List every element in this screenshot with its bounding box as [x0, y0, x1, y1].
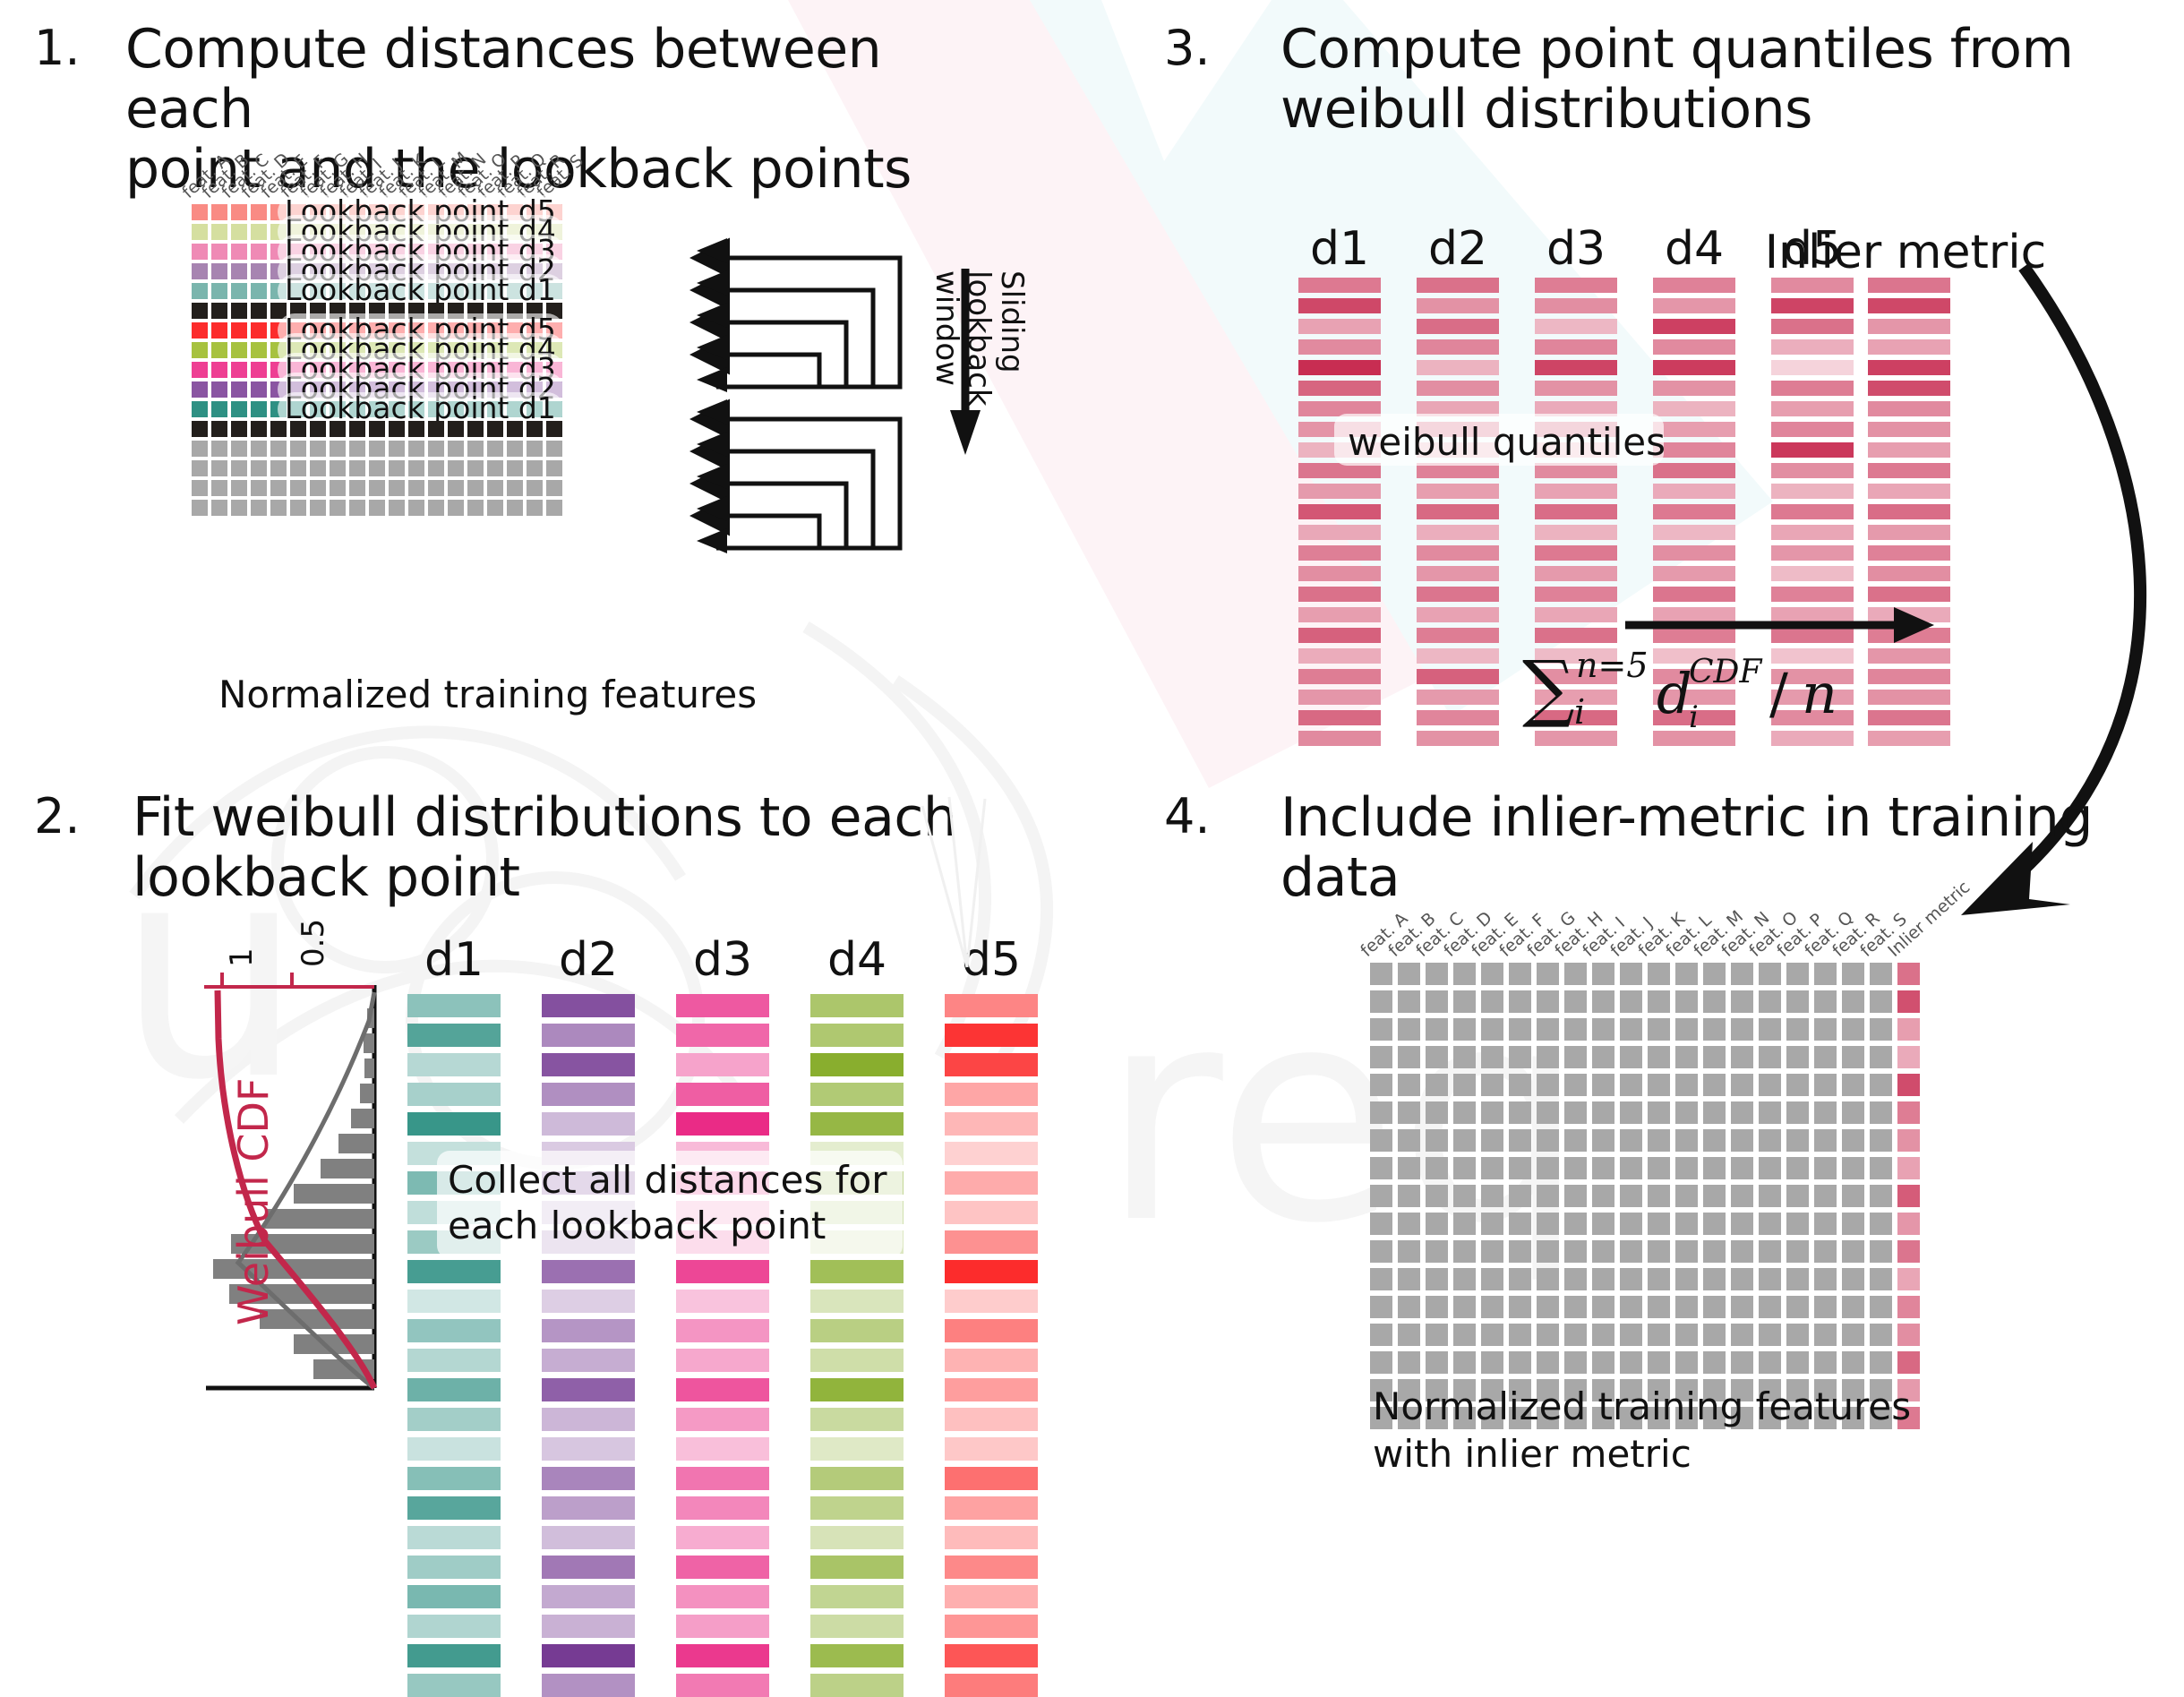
distance-bar [810, 1585, 904, 1608]
feature-cell [310, 500, 326, 516]
feature-cell [1620, 1074, 1642, 1096]
feature-cell [310, 441, 326, 457]
feature-cell [1426, 1296, 1448, 1318]
distance-bar [810, 1349, 904, 1372]
feature-cell [1814, 963, 1837, 985]
feature-cell [330, 500, 346, 516]
quantile-bar [1417, 339, 1499, 355]
distance-bar [407, 1260, 501, 1283]
feature-cell [1731, 1213, 1753, 1235]
quantile-bar [1417, 278, 1499, 293]
distance-bar [542, 1556, 635, 1579]
feature-cell [211, 401, 227, 417]
feature-cell [1564, 1324, 1587, 1346]
distance-bar [810, 1496, 904, 1520]
distance-bar [810, 1319, 904, 1342]
feature-cell [527, 460, 543, 476]
distance-bar [407, 1290, 501, 1313]
quantile-bar [1535, 504, 1617, 519]
feature-cell [1564, 990, 1587, 1013]
feature-cell [1648, 1074, 1670, 1096]
feature-cell [1620, 1213, 1642, 1235]
distance-bar [407, 1467, 501, 1490]
feature-cell [507, 500, 523, 516]
quantile-bar [1298, 525, 1381, 540]
feature-row [192, 421, 566, 437]
feature-cell [1537, 1296, 1559, 1318]
training-row [1370, 1351, 1920, 1374]
feature-cell [251, 244, 267, 260]
distance-bar [676, 1319, 769, 1342]
feature-cell [310, 460, 326, 476]
feature-cell [349, 421, 365, 437]
feature-cell [231, 401, 247, 417]
quantile-bar [1298, 381, 1381, 396]
feature-cell [1842, 1296, 1864, 1318]
feature-cell [1537, 1018, 1559, 1041]
feature-row [192, 500, 566, 516]
svg-text:n=5: n=5 [1576, 646, 1649, 685]
feature-cell [1481, 1046, 1503, 1068]
distance-bar [542, 1024, 635, 1047]
feature-cell [1509, 1185, 1531, 1207]
feature-cell [1398, 963, 1420, 985]
quantile-bar [1417, 566, 1499, 581]
distance-bar [945, 1349, 1038, 1372]
quantile-bar [1535, 731, 1617, 746]
feature-cell [290, 460, 306, 476]
feature-cell [1426, 1129, 1448, 1152]
quantile-bar [1298, 628, 1381, 643]
feature-cell [1426, 1157, 1448, 1179]
inlier-metric-cell [1897, 1129, 1920, 1152]
feature-cell [1842, 1185, 1864, 1207]
feature-cell [251, 381, 267, 398]
feature-cell [1509, 1101, 1531, 1124]
distance-bar [945, 1408, 1038, 1431]
feature-cell [1759, 1296, 1781, 1318]
training-row [1370, 1296, 1920, 1318]
distance-bar [407, 1585, 501, 1608]
feature-cell [270, 500, 287, 516]
distance-bar [407, 1349, 501, 1372]
feature-cell [527, 480, 543, 496]
feature-row [192, 480, 566, 496]
distance-bar [676, 1496, 769, 1520]
feature-cell [1564, 1018, 1587, 1041]
feature-cell [389, 421, 405, 437]
feature-cell [1814, 1018, 1837, 1041]
feature-cell [1870, 963, 1892, 985]
feature-cell [231, 480, 247, 496]
quantile-bar [1653, 401, 1735, 416]
distance-bar [676, 1437, 769, 1461]
feature-cell [1648, 1324, 1670, 1346]
feature-cell [1731, 1018, 1753, 1041]
distance-bar [542, 1496, 635, 1520]
feature-cell [1453, 1046, 1476, 1068]
feature-cell [1870, 1018, 1892, 1041]
feature-cell [270, 460, 287, 476]
feature-cell [1731, 963, 1753, 985]
feature-cell [1731, 1324, 1753, 1346]
feature-cell [1620, 990, 1642, 1013]
feature-cell [290, 480, 306, 496]
feature-cell [1842, 1074, 1864, 1096]
quantile-bar [1298, 504, 1381, 519]
feature-cell [1648, 1268, 1670, 1290]
feature-cell [1620, 1018, 1642, 1041]
feature-cell [1620, 1268, 1642, 1290]
inlier-metric-cell [1897, 1351, 1920, 1374]
feature-cell [1453, 963, 1476, 985]
quantile-bar [1298, 319, 1381, 334]
quantile-bar [1535, 525, 1617, 540]
feature-cell [231, 421, 247, 437]
feature-cell [507, 480, 523, 496]
feature-cell [1814, 1268, 1837, 1290]
feature-cell [1370, 1157, 1392, 1179]
feature-cell [1703, 1213, 1726, 1235]
feature-cell [330, 460, 346, 476]
distance-bar [945, 1230, 1038, 1254]
quantile-bar [1653, 545, 1735, 561]
quantile-bar [1535, 278, 1617, 293]
feature-cell [1814, 1074, 1837, 1096]
distance-bar [407, 1112, 501, 1136]
feature-cell [251, 421, 267, 437]
inlier-metric-cell [1897, 1268, 1920, 1290]
feature-cell [1648, 1296, 1670, 1318]
feature-cell [1870, 1213, 1892, 1235]
feature-cell [507, 460, 523, 476]
quantile-bar [1653, 381, 1735, 396]
feature-cell [1398, 990, 1420, 1013]
distance-bar [810, 1615, 904, 1638]
feature-cell [231, 342, 247, 358]
feature-cell [1675, 1018, 1698, 1041]
distance-bar [542, 1053, 635, 1076]
column-header: d2 [542, 933, 635, 987]
feature-cell [389, 500, 405, 516]
column-header: d3 [1535, 222, 1617, 276]
feature-cell [1509, 1240, 1531, 1263]
feature-cell [1648, 1240, 1670, 1263]
feature-cell [1842, 1324, 1864, 1346]
feature-cell [1786, 1046, 1809, 1068]
feature-cell [1620, 1101, 1642, 1124]
feature-cell [211, 362, 227, 378]
feature-cell [1564, 1101, 1587, 1124]
feature-cell [231, 263, 247, 279]
feature-cell [1814, 1046, 1837, 1068]
distance-bar [407, 994, 501, 1017]
feature-cell [1537, 1157, 1559, 1179]
feature-cell [1564, 1129, 1587, 1152]
feature-cell [1675, 1324, 1698, 1346]
distance-bar [407, 1319, 501, 1342]
feature-cell [231, 362, 247, 378]
distance-bar [810, 1112, 904, 1136]
feature-cell [1426, 963, 1448, 985]
feature-cell [192, 401, 208, 417]
feature-cell [211, 342, 227, 358]
feature-cell [428, 421, 444, 437]
feature-cell [1648, 1185, 1670, 1207]
feature-cell [1703, 1240, 1726, 1263]
feature-cell [1370, 990, 1392, 1013]
feature-cell [546, 500, 562, 516]
feature-cell [487, 460, 503, 476]
panel-2-number: 2. [34, 788, 81, 844]
panel-1-caption: Normalized training features [218, 672, 757, 719]
feature-cell [251, 204, 267, 220]
feature-cell [1537, 1324, 1559, 1346]
svg-text:∑: ∑ [1522, 646, 1575, 731]
feature-cell [1648, 1046, 1670, 1068]
distance-bar [676, 1467, 769, 1490]
feature-cell [408, 500, 424, 516]
feature-cell [369, 500, 385, 516]
distance-bar [407, 1437, 501, 1461]
panel-1-rows: Lookback point d5Lookback point d4Lookba… [192, 204, 566, 519]
quantile-bar [1298, 545, 1381, 561]
feature-cell [1648, 963, 1670, 985]
feature-cell [211, 204, 227, 220]
feature-cell [546, 421, 562, 437]
feature-cell [448, 441, 464, 457]
quantile-bar [1298, 339, 1381, 355]
feature-cell [1509, 1213, 1531, 1235]
feature-cell [1648, 990, 1670, 1013]
feature-cell [270, 421, 287, 437]
feature-cell [546, 480, 562, 496]
feature-cell [1703, 1101, 1726, 1124]
feature-cell [1592, 1324, 1614, 1346]
feature-cell [1731, 1101, 1753, 1124]
feature-cell [211, 322, 227, 339]
feature-cell [1426, 1046, 1448, 1068]
distance-bar [945, 1171, 1038, 1195]
feature-cell [1564, 1213, 1587, 1235]
feature-cell [1620, 1296, 1642, 1318]
feature-row [192, 460, 566, 476]
quantile-bar [1298, 360, 1381, 375]
cdf-tick-1: 1 [224, 947, 260, 967]
inlier-metric-cell [1897, 1213, 1920, 1235]
feature-cell [1731, 1268, 1753, 1290]
feature-cell [1481, 1101, 1503, 1124]
feature-cell [1398, 1351, 1420, 1374]
feature-row [192, 441, 566, 457]
feature-cell [448, 421, 464, 437]
quantile-bar [1653, 360, 1735, 375]
distance-bar [945, 1496, 1038, 1520]
feature-cell [1759, 1213, 1781, 1235]
distance-bar [542, 1112, 635, 1136]
training-row [1370, 1268, 1920, 1290]
feature-cell [1759, 1240, 1781, 1263]
distance-bar [676, 1349, 769, 1372]
feature-cell [211, 263, 227, 279]
feature-cell [1509, 1351, 1531, 1374]
feature-cell [1370, 1046, 1392, 1068]
feature-cell [1592, 963, 1614, 985]
feature-cell [1537, 1185, 1559, 1207]
feature-cell [231, 441, 247, 457]
feature-cell [1620, 1157, 1642, 1179]
feature-cell [1537, 1046, 1559, 1068]
feature-cell [192, 204, 208, 220]
feature-cell [192, 244, 208, 260]
distance-bar [542, 1526, 635, 1549]
inlier-metric-cell [1897, 1101, 1920, 1124]
feature-cell [1870, 1129, 1892, 1152]
feature-cell [408, 460, 424, 476]
feature-cell [192, 263, 208, 279]
distance-bar [945, 1201, 1038, 1224]
quantile-bar [1417, 648, 1499, 664]
feature-cell [1481, 1074, 1503, 1096]
feature-cell [1537, 990, 1559, 1013]
feature-cell [1537, 1129, 1559, 1152]
feature-cell [448, 480, 464, 496]
feature-cell [1370, 1324, 1392, 1346]
feature-cell [1870, 990, 1892, 1013]
column-header: d4 [1653, 222, 1735, 276]
feature-cell [1786, 1101, 1809, 1124]
feature-cell [192, 283, 208, 299]
quantile-bar [1535, 339, 1617, 355]
feature-cell [1703, 1157, 1726, 1179]
distance-bar [945, 1024, 1038, 1047]
feature-cell [1370, 1101, 1392, 1124]
panel-4-number: 4. [1164, 788, 1211, 844]
distance-bar [542, 1644, 635, 1667]
quantile-bar [1535, 319, 1617, 334]
feature-cell [1786, 1018, 1809, 1041]
training-row [1370, 1101, 1920, 1124]
feature-cell [389, 441, 405, 457]
panel-4-title: Include inlier-metric in training data [1280, 788, 2184, 908]
feature-cell [448, 460, 464, 476]
distance-bar [945, 1526, 1038, 1549]
feature-cell [192, 441, 208, 457]
feature-cell [1620, 1129, 1642, 1152]
feature-cell [349, 460, 365, 476]
quantile-bar [1417, 484, 1499, 499]
distance-bar [945, 1674, 1038, 1697]
feature-cell [211, 303, 227, 319]
feature-cell [1426, 1185, 1448, 1207]
feature-cell [1370, 963, 1392, 985]
column-header: d2 [1417, 222, 1499, 276]
feature-cell [1648, 1157, 1670, 1179]
feature-cell [231, 460, 247, 476]
distance-bar [676, 1556, 769, 1579]
quantile-bar [1653, 298, 1735, 313]
feature-cell [1703, 963, 1726, 985]
feature-cell [1703, 1074, 1726, 1096]
feature-cell [1370, 1074, 1392, 1096]
feature-cell [1620, 1351, 1642, 1374]
distance-bar [945, 1437, 1038, 1461]
feature-cell [1648, 1213, 1670, 1235]
feature-cell [1842, 1157, 1864, 1179]
quantile-bar [1417, 731, 1499, 746]
feature-cell [1703, 1324, 1726, 1346]
feature-cell [1759, 1074, 1781, 1096]
feature-cell [231, 204, 247, 220]
inlier-metric-cell [1897, 1074, 1920, 1096]
feature-cell [1370, 1018, 1392, 1041]
feature-cell [1592, 1296, 1614, 1318]
feature-cell [1675, 1129, 1698, 1152]
feature-cell [251, 401, 267, 417]
feature-cell [369, 480, 385, 496]
distance-bar [542, 1467, 635, 1490]
distance-bar [676, 1260, 769, 1283]
feature-cell [1370, 1351, 1392, 1374]
feature-cell [192, 362, 208, 378]
distance-bar [676, 1290, 769, 1313]
distance-bar [810, 1526, 904, 1549]
panel-1-lookback-arrows [707, 235, 940, 557]
quantile-bar [1417, 545, 1499, 561]
feature-cell [231, 224, 247, 240]
distance-bar [810, 1024, 904, 1047]
feature-cell [349, 441, 365, 457]
feature-cell [1620, 1324, 1642, 1346]
feature-cell [1731, 1046, 1753, 1068]
feature-cell [487, 480, 503, 496]
feature-cell [1509, 963, 1531, 985]
distance-bar [810, 1674, 904, 1697]
distance-bar [676, 1674, 769, 1697]
quantile-bar [1653, 339, 1735, 355]
inlier-metric-cell [1897, 1018, 1920, 1041]
feature-cell [507, 421, 523, 437]
distance-bar [542, 1290, 635, 1313]
feature-cell [1759, 1046, 1781, 1068]
distance-bar [542, 1585, 635, 1608]
panel-2-overlay-text: Collect all distances for each lookback … [448, 1157, 887, 1248]
feature-cell [1703, 1351, 1726, 1374]
distance-bar [945, 1585, 1038, 1608]
feature-cell [211, 421, 227, 437]
feature-cell [507, 441, 523, 457]
feature-cell [1481, 963, 1503, 985]
svg-text:i: i [1574, 692, 1585, 732]
distance-bar [945, 1319, 1038, 1342]
quantile-bar [1298, 690, 1381, 705]
distance-bar [810, 1083, 904, 1106]
feature-cell [487, 441, 503, 457]
panel-4-feature-labels: feat. Afeat. Bfeat. Cfeat. Dfeat. Efeat.… [1370, 907, 1997, 961]
distance-bar [676, 1644, 769, 1667]
distance-bar [407, 1496, 501, 1520]
distance-bar [407, 1083, 501, 1106]
feature-cell [1537, 1213, 1559, 1235]
feature-cell [192, 381, 208, 398]
feature-cell [1564, 1157, 1587, 1179]
distance-bar [407, 1408, 501, 1431]
feature-cell [1426, 1101, 1448, 1124]
feature-cell [1731, 1296, 1753, 1318]
feature-cell [211, 480, 227, 496]
feature-cell [467, 441, 484, 457]
feature-cell [1731, 1185, 1753, 1207]
